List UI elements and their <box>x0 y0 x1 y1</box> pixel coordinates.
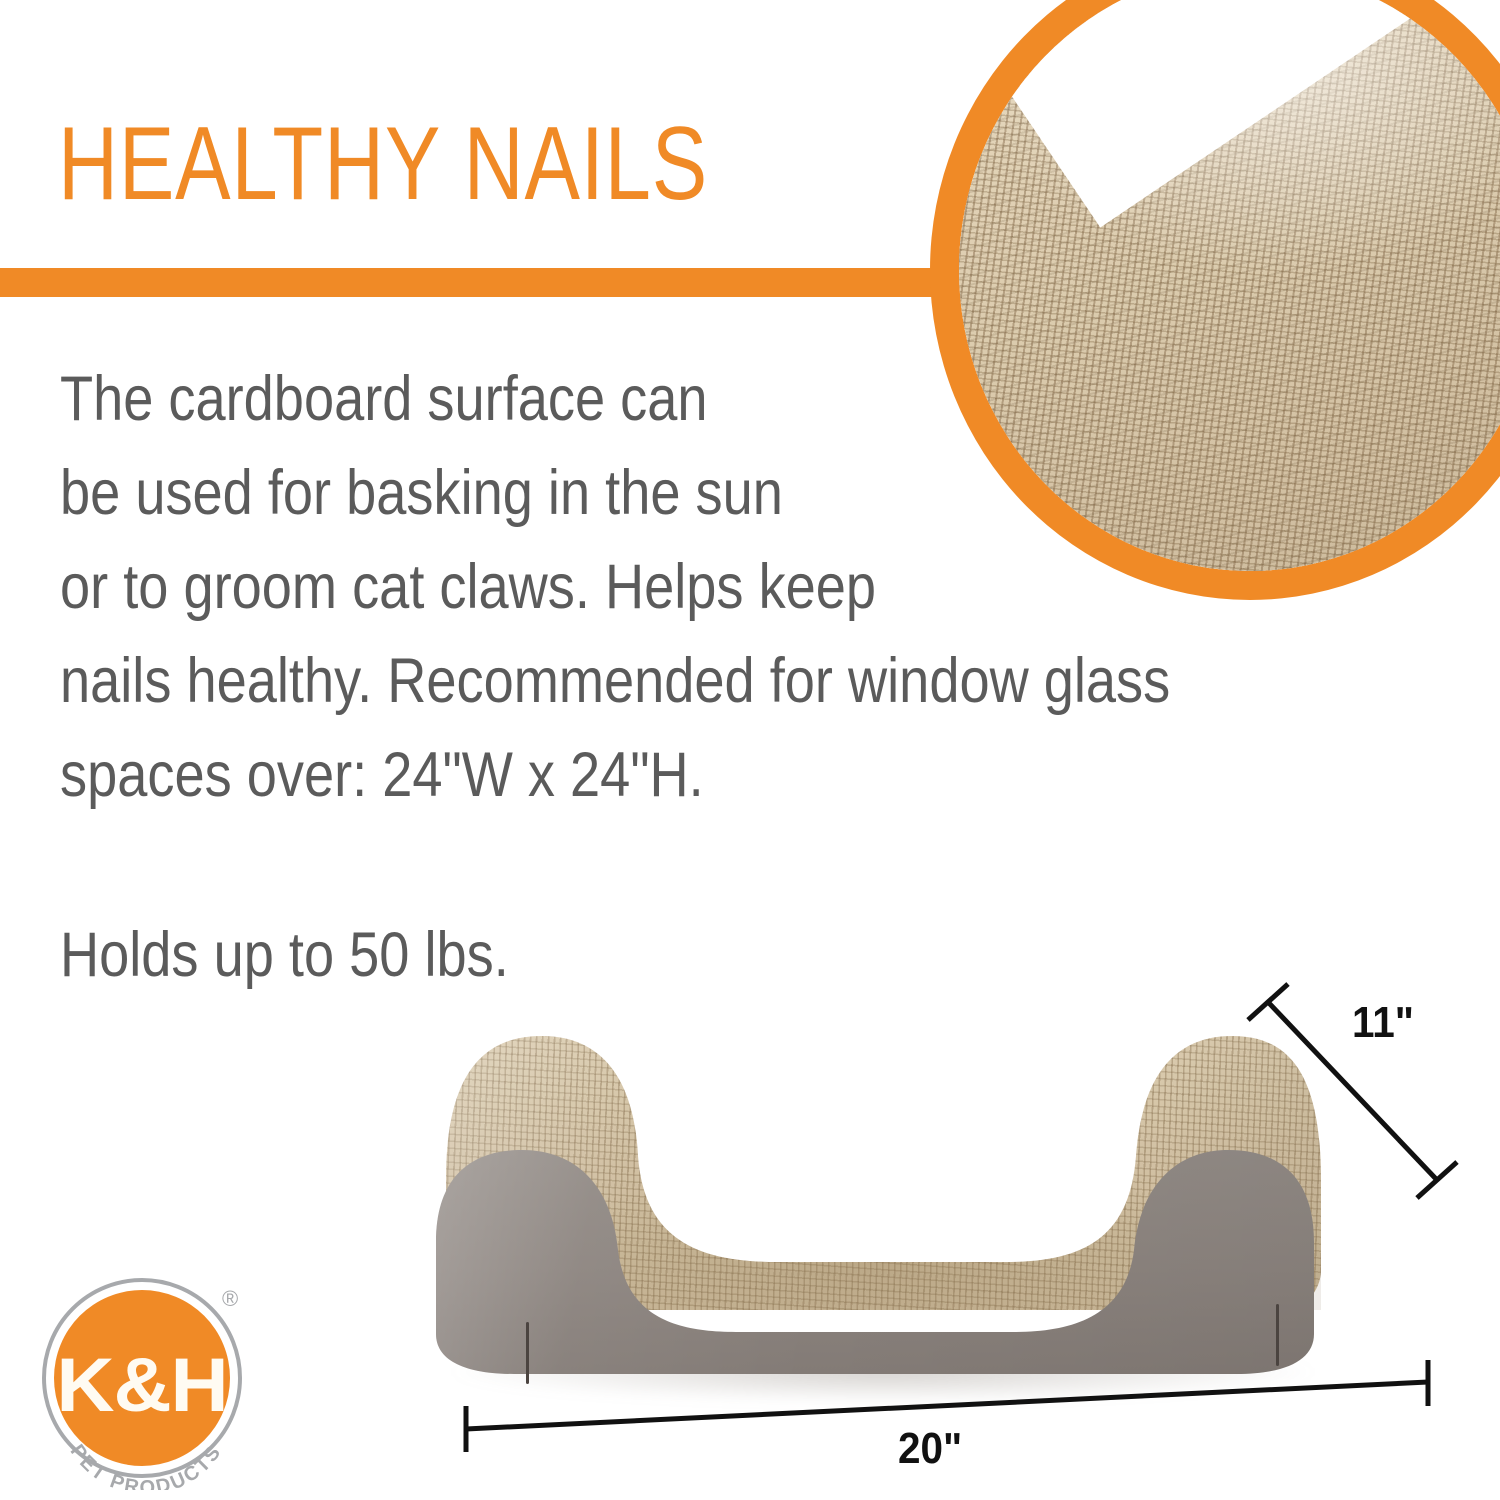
logo-tagline-text: PET PRODUCTS <box>66 1441 227 1490</box>
depth-dimension-label: 11" <box>1352 998 1414 1048</box>
promo-graphic: HEALTHY NAILS The cardboard surface can … <box>0 0 1500 1500</box>
product-slot-right <box>1276 1304 1279 1366</box>
product-slot-left <box>526 1322 529 1384</box>
weight-capacity-text: Holds up to 50 lbs. <box>60 908 509 1002</box>
width-dimension-label: 20" <box>898 1424 962 1474</box>
logo-tagline-arc: PET PRODUCTS <box>38 1276 254 1490</box>
brand-logo: K&H ® PET PRODUCTS <box>38 1276 254 1490</box>
logo-tagline-textpath: PET PRODUCTS <box>66 1441 227 1490</box>
page-title: HEALTHY NAILS <box>58 112 708 216</box>
orange-divider-bar <box>0 268 965 297</box>
product-photo <box>428 1022 1338 1397</box>
description-paragraph: The cardboard surface can be used for ba… <box>60 352 1290 822</box>
